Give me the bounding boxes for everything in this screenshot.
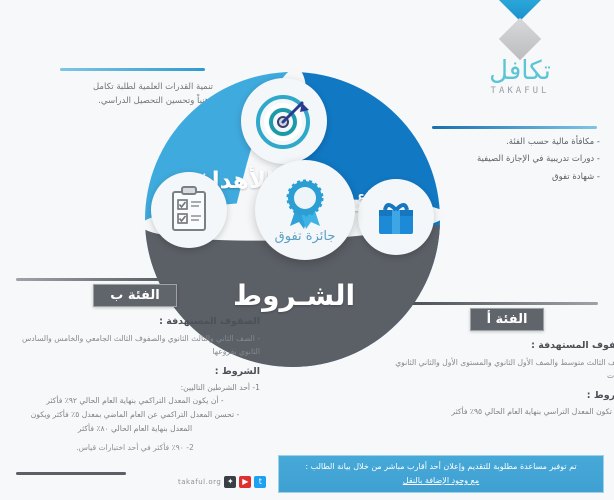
- category-b-targets-body: - الصف الثاني والثالث الثانوي والصفوف ال…: [10, 332, 260, 359]
- prize-line-2: - دورات تدريبية في الإجازة الصيفية: [440, 151, 600, 168]
- category-b-block: الفئة ب الصفوف المستهدفة : - الصف الثاني…: [10, 284, 260, 452]
- footer-notice-bar: تم توفير مساعدة مطلوبة للتقديم وإعلان أح…: [278, 455, 604, 493]
- connector-line-prize: [432, 126, 597, 129]
- category-b-chip[interactable]: الفئة ب: [93, 284, 176, 307]
- target-disc[interactable]: [241, 78, 327, 164]
- category-a-targets-heading: الصفوف المستهدفة :: [382, 340, 614, 351]
- social-handle: takaful.org: [178, 478, 221, 486]
- category-a-chip[interactable]: الفئة أ: [470, 308, 545, 331]
- brand-logo: تكافل TAKAFUL: [460, 0, 580, 105]
- center-award-disc[interactable]: جائزة تفوق: [255, 160, 355, 260]
- logo-latin-name: TAKAFUL: [460, 86, 580, 96]
- category-b-targets-heading: الصفوف المستهدفة :: [10, 316, 260, 327]
- category-b-note: 2- ٩٠٪ فأكثر في أحد اختبارات قياس.: [10, 443, 260, 452]
- category-a-condition-1: 1- أن تكون المعدل التراسي بنهاية العام ا…: [382, 405, 614, 419]
- prize-line-1: - مكافأة مالية حسب الفئة.: [440, 134, 600, 151]
- twitter-icon[interactable]: t: [254, 476, 266, 488]
- category-a-targets-body: - الصف الثالث متوسط والصف الأول الثانوي …: [382, 356, 614, 383]
- clipboard-disc[interactable]: [151, 172, 227, 248]
- footer-line-2[interactable]: مع وجود الإضافة بالنقل: [403, 474, 479, 488]
- category-b-condition-2: - تحسن المعدل التراكمي عن العام الماضي ب…: [10, 408, 260, 422]
- category-b-conditions-heading: الشروط :: [10, 366, 260, 377]
- gift-box-icon: [371, 192, 421, 242]
- footer-line-1: تم توفير مساعدة مطلوبة للتقديم وإعلان أح…: [305, 460, 576, 474]
- clipboard-checklist-icon: [166, 185, 212, 235]
- center-label: جائزة تفوق: [275, 229, 336, 244]
- youtube-icon[interactable]: ▶: [239, 476, 251, 488]
- prize-benefits-list: - مكافأة مالية حسب الفئة. - دورات تدريبي…: [440, 134, 600, 186]
- connector-line-goals: [60, 68, 205, 71]
- social-icon[interactable]: ✦: [224, 476, 236, 488]
- prize-line-3: - شهادة تفوق: [440, 169, 600, 186]
- logo-diamond-gray-icon: [499, 18, 541, 60]
- category-b-condition-3: المعدل بنهاية العام الحالي ٨٠٪ فأكثر: [10, 422, 260, 436]
- footer-divider: [16, 472, 126, 475]
- award-ribbon-icon: [278, 177, 332, 233]
- logo-wordmark: تكافل: [460, 58, 580, 84]
- category-a-conditions-heading: الشروط :: [382, 390, 614, 401]
- category-a-block: الفئة أ الصفوف المستهدفة : - الصف الثالث…: [382, 308, 614, 418]
- category-b-condition-1: - أن يكون المعدل التراكمي بنهاية العام ا…: [10, 394, 260, 408]
- target-dart-icon: [252, 89, 316, 153]
- social-links: t ▶ ✦ takaful.org: [178, 476, 266, 488]
- category-b-conditions-intro: 1- أحد الشرطين التاليين:: [10, 381, 260, 395]
- infographic-canvas: تكافل TAKAFUL تنمية القدرات العلمية لطلب…: [0, 0, 614, 500]
- gift-disc[interactable]: [358, 179, 434, 255]
